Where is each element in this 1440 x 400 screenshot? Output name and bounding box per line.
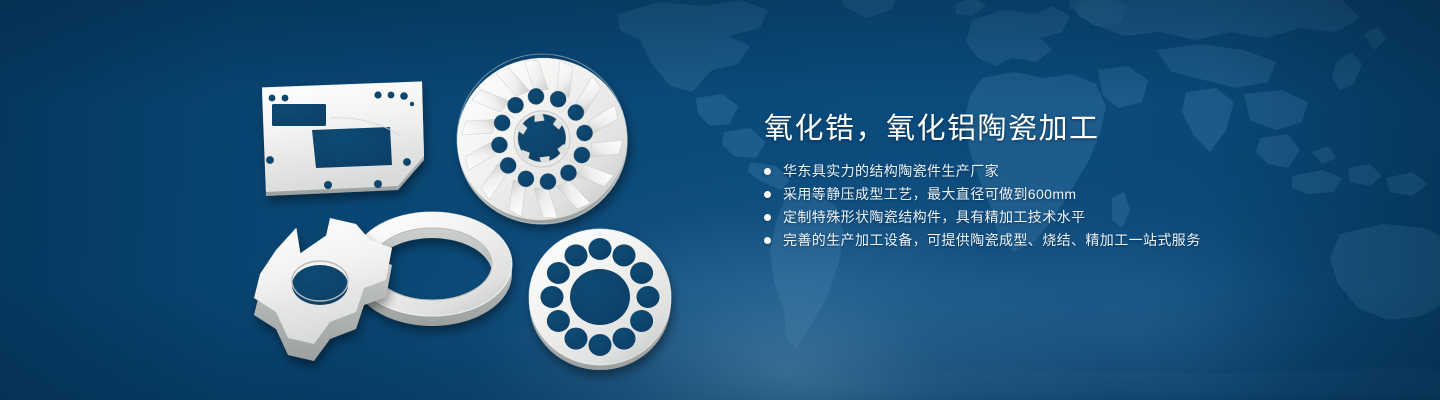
list-item: 采用等静压成型工艺，最大直径可做到600mm [764,186,1384,202]
ceramic-products-photo [0,0,740,400]
page-title: 氧化锆，氧化铝陶瓷加工 [764,112,1384,146]
bullet-dot-icon [764,237,771,244]
list-item: 定制特殊形状陶瓷结构件，具有精加工技术水平 [764,209,1384,225]
list-item-label: 定制特殊形状陶瓷结构件，具有精加工技术水平 [783,209,1085,225]
list-item: 完善的生产加工设备，可提供陶瓷成型、烧结、精加工一站式服务 [764,232,1384,248]
ceramic-mounting-plate [262,82,424,196]
bullet-dot-icon [764,168,771,175]
ceramic-impeller [446,43,638,235]
ceramic-perforated-disc [529,229,671,370]
list-item-label: 完善的生产加工设备，可提供陶瓷成型、烧结、精加工一站式服务 [783,232,1201,248]
banner-copy: 氧化锆，氧化铝陶瓷加工 华东具实力的结构陶瓷件生产厂家 采用等静压成型工艺，最大… [764,112,1384,248]
promo-banner: 氧化锆，氧化铝陶瓷加工 华东具实力的结构陶瓷件生产厂家 采用等静压成型工艺，最大… [0,0,1440,400]
list-item-label: 采用等静压成型工艺，最大直径可做到600mm [783,186,1076,202]
list-item: 华东具实力的结构陶瓷件生产厂家 [764,163,1384,179]
feature-list: 华东具实力的结构陶瓷件生产厂家 采用等静压成型工艺，最大直径可做到600mm 定… [764,163,1384,248]
list-item-label: 华东具实力的结构陶瓷件生产厂家 [783,163,999,179]
bullet-dot-icon [764,191,771,198]
bullet-dot-icon [764,214,771,221]
